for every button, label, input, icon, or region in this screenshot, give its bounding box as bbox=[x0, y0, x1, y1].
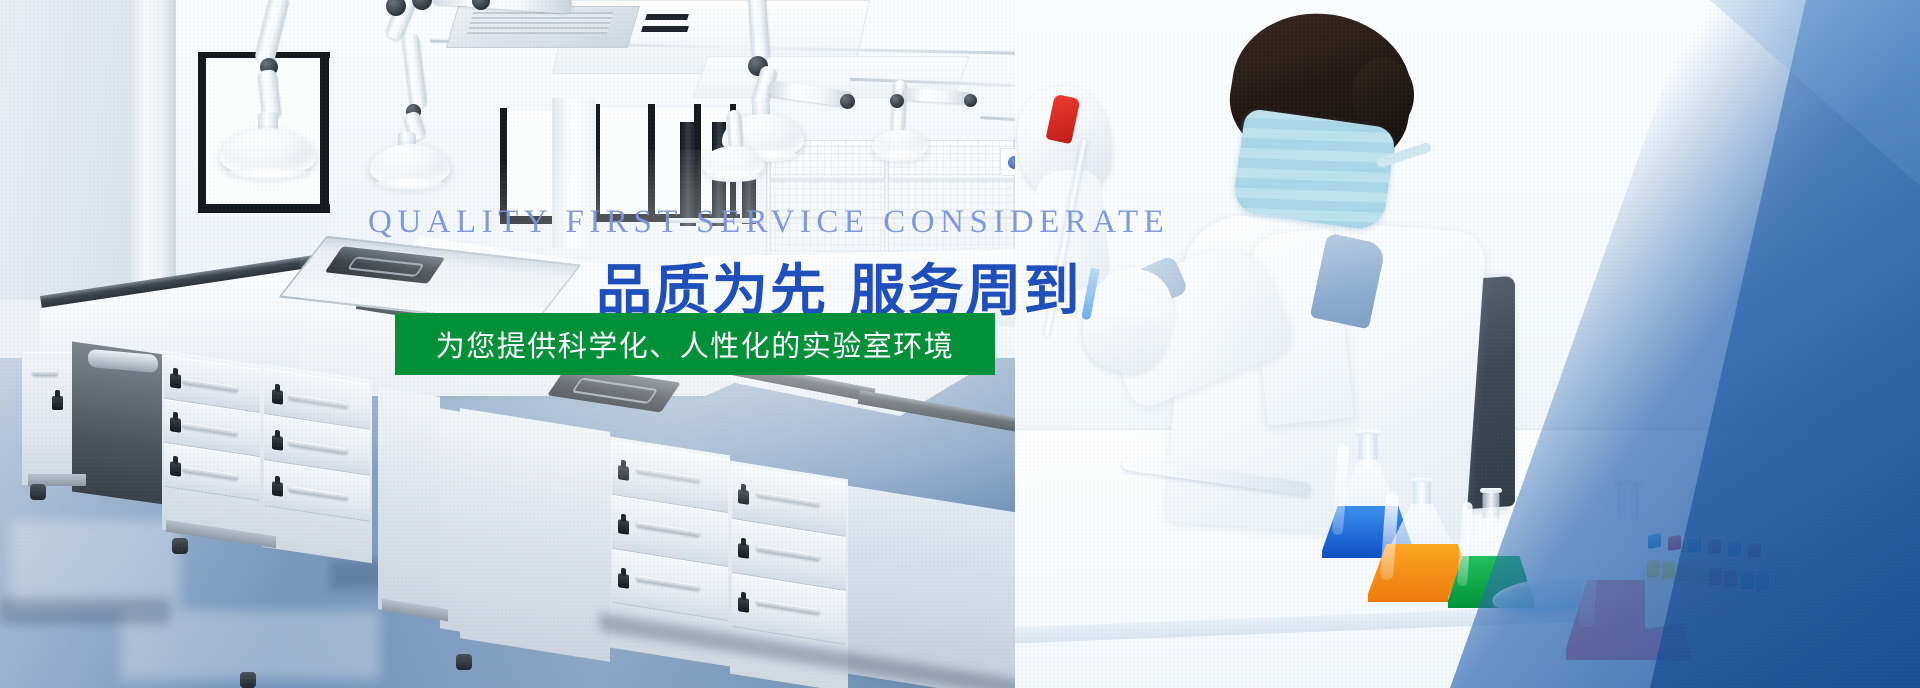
tray-slot bbox=[347, 256, 426, 277]
bench-side-panel bbox=[460, 408, 610, 662]
arm-segment bbox=[254, 0, 290, 65]
window-frame bbox=[198, 204, 330, 213]
promo-banner: QUALITY FIRST SERVICE CONSIDERATE 品质为先 服… bbox=[0, 0, 1920, 688]
dome-lamp-hood bbox=[702, 146, 764, 178]
dome-lamp-hood bbox=[220, 128, 316, 176]
drawer-lock bbox=[738, 543, 749, 559]
cabinet-caster bbox=[30, 484, 46, 500]
ceiling-extractor-arm bbox=[238, 0, 358, 200]
cabinet-caster bbox=[240, 672, 256, 688]
wall-column bbox=[552, 98, 596, 248]
arm-joint-icon bbox=[964, 94, 977, 107]
drawer-lock bbox=[618, 519, 629, 535]
structural-pillar bbox=[130, 0, 176, 300]
drawer-lock bbox=[618, 573, 629, 589]
drawer-lock bbox=[618, 465, 629, 481]
cabinet-handle bbox=[32, 370, 58, 376]
floor-shadow bbox=[0, 598, 170, 624]
arm-joint-icon bbox=[472, 0, 490, 10]
tray-slot bbox=[572, 378, 658, 404]
dome-lamp-hood bbox=[370, 144, 450, 186]
arm-segment bbox=[432, 0, 573, 14]
arm-segment bbox=[402, 33, 428, 109]
ceiling-extractor-arm bbox=[432, 0, 612, 60]
drawer-lock bbox=[170, 461, 181, 477]
window-frame bbox=[648, 104, 655, 222]
ceiling-extractor-arm bbox=[700, 110, 820, 220]
drawer-lock bbox=[272, 481, 283, 497]
drawer-lock bbox=[272, 435, 283, 451]
left-wall bbox=[0, 0, 150, 300]
arm-segment bbox=[727, 110, 744, 149]
drawer-lock bbox=[170, 417, 181, 433]
arm-segment bbox=[902, 88, 973, 105]
face-mask bbox=[1232, 108, 1397, 232]
hair-bun bbox=[1352, 58, 1414, 132]
floor-highlight bbox=[10, 520, 180, 610]
drawer-lock bbox=[738, 597, 749, 613]
arm-segment bbox=[748, 0, 771, 61]
bench-side-panel bbox=[440, 408, 460, 631]
drawer-lock bbox=[272, 389, 283, 405]
dome-lamp-hood bbox=[872, 130, 928, 158]
drawer-lock bbox=[170, 373, 181, 389]
air-conditioner-slot bbox=[641, 26, 689, 32]
bench-side-panel bbox=[378, 387, 440, 619]
cabinet-caster bbox=[172, 538, 188, 554]
fume-hood-sash bbox=[680, 122, 696, 226]
ceiling-extractor-arm bbox=[872, 80, 1012, 220]
window-frame bbox=[198, 52, 206, 212]
air-conditioner-slot bbox=[645, 14, 689, 20]
laboratory-photo-background bbox=[0, 0, 1920, 688]
cabinet-caster bbox=[456, 654, 472, 670]
window-frame bbox=[500, 216, 560, 224]
cabinet-lock bbox=[52, 396, 63, 410]
drawer-lock bbox=[738, 489, 749, 505]
arm-joint-icon bbox=[840, 94, 855, 109]
